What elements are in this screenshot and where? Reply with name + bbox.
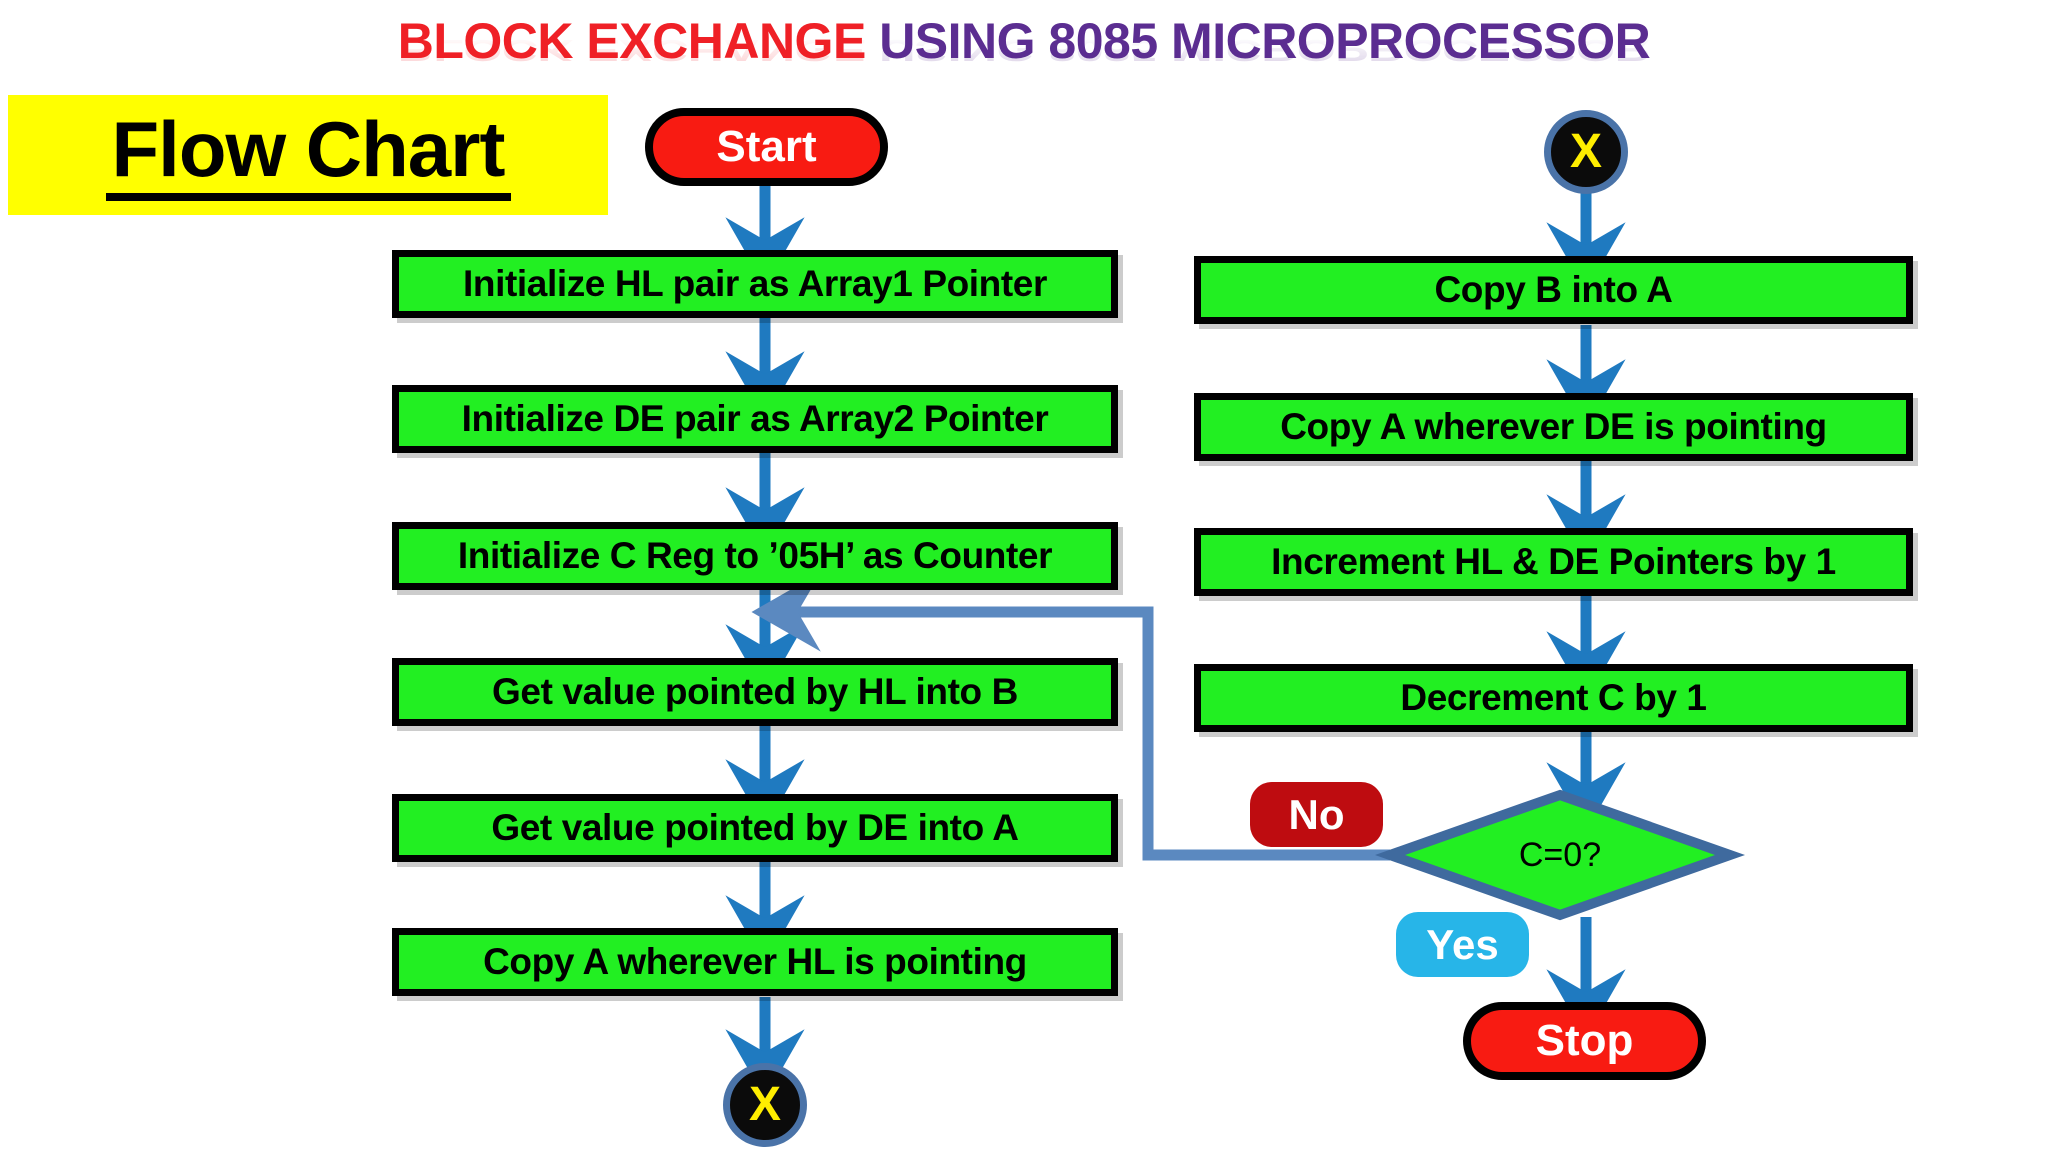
process-get-de-into-a[interactable]: Get value pointed by DE into A: [392, 794, 1118, 862]
process-decrement-c-label: Decrement C by 1: [1400, 677, 1706, 719]
branch-label-no: No: [1250, 782, 1383, 847]
title-part-using-8085: USING 8085 MICROPROCESSOR: [879, 13, 1650, 69]
connector-x-out[interactable]: X: [723, 1063, 807, 1147]
title-part-block-exchange: BLOCK EXCHANGE: [398, 13, 879, 69]
process-increment-pointers[interactable]: Increment HL & DE Pointers by 1: [1194, 528, 1913, 596]
process-get-hl-into-b[interactable]: Get value pointed by HL into B: [392, 658, 1118, 726]
branch-label-yes-text: Yes: [1426, 921, 1498, 969]
process-get-de-into-a-label: Get value pointed by DE into A: [491, 807, 1018, 849]
decision-label: C=0?: [1390, 795, 1730, 915]
process-get-hl-into-b-label: Get value pointed by HL into B: [492, 671, 1018, 713]
process-init-de-label: Initialize DE pair as Array2 Pointer: [462, 398, 1049, 440]
process-copy-b-into-a[interactable]: Copy B into A: [1194, 256, 1913, 324]
process-copy-b-into-a-label: Copy B into A: [1434, 269, 1672, 311]
process-init-counter-label: Initialize C Reg to ’05H’ as Counter: [458, 535, 1052, 577]
process-init-de[interactable]: Initialize DE pair as Array2 Pointer: [392, 385, 1118, 453]
connector-x-in[interactable]: X: [1544, 110, 1628, 194]
start-terminator[interactable]: Start: [645, 108, 888, 186]
process-init-hl[interactable]: Initialize HL pair as Array1 Pointer: [392, 250, 1118, 318]
stop-terminator[interactable]: Stop: [1463, 1002, 1706, 1080]
branch-label-yes: Yes: [1396, 912, 1529, 977]
flowchart-heading-text: Flow Chart: [106, 109, 511, 201]
process-decrement-c[interactable]: Decrement C by 1: [1194, 664, 1913, 732]
process-copy-a-to-de-label: Copy A wherever DE is pointing: [1280, 406, 1827, 448]
start-label: Start: [716, 122, 816, 172]
process-copy-a-to-hl-label: Copy A wherever HL is pointing: [483, 941, 1027, 983]
page-title: BLOCK EXCHANGE USING 8085 MICROPROCESSOR: [0, 16, 2048, 66]
decision-c-equals-zero[interactable]: C=0?: [1390, 795, 1730, 915]
process-increment-pointers-label: Increment HL & DE Pointers by 1: [1271, 541, 1836, 583]
branch-label-no-text: No: [1289, 791, 1345, 839]
process-init-hl-label: Initialize HL pair as Array1 Pointer: [463, 263, 1047, 305]
stop-label: Stop: [1536, 1016, 1634, 1066]
process-copy-a-to-hl[interactable]: Copy A wherever HL is pointing: [392, 928, 1118, 996]
flowchart-canvas: BLOCK EXCHANGE USING 8085 MICROPROCESSOR…: [0, 0, 2048, 1152]
connector-x-out-label: X: [749, 1081, 781, 1129]
process-copy-a-to-de[interactable]: Copy A wherever DE is pointing: [1194, 393, 1913, 461]
process-init-counter[interactable]: Initialize C Reg to ’05H’ as Counter: [392, 522, 1118, 590]
connector-x-in-label: X: [1570, 128, 1602, 176]
flowchart-heading-highlight: Flow Chart: [8, 95, 608, 215]
